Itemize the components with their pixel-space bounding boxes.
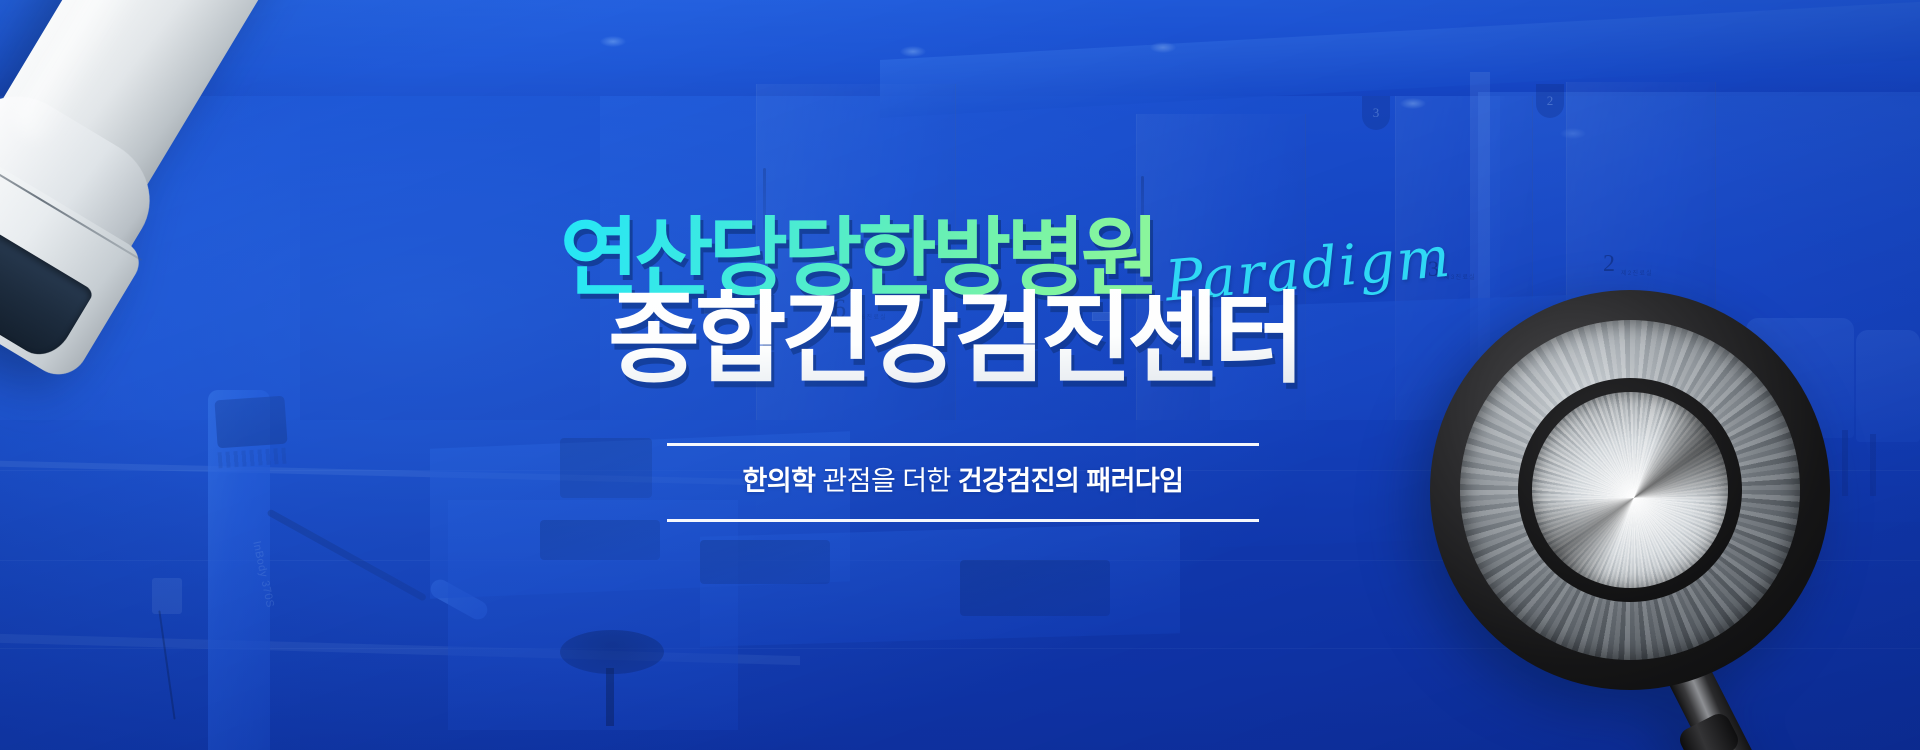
stethoscope bbox=[1430, 290, 1860, 720]
hero-banner: 6 제6진료실 5 제5진료실 3 제3진료실 3 2 제2진료실 2 bbox=[0, 0, 1920, 750]
stethoscope-shading bbox=[1532, 392, 1728, 588]
